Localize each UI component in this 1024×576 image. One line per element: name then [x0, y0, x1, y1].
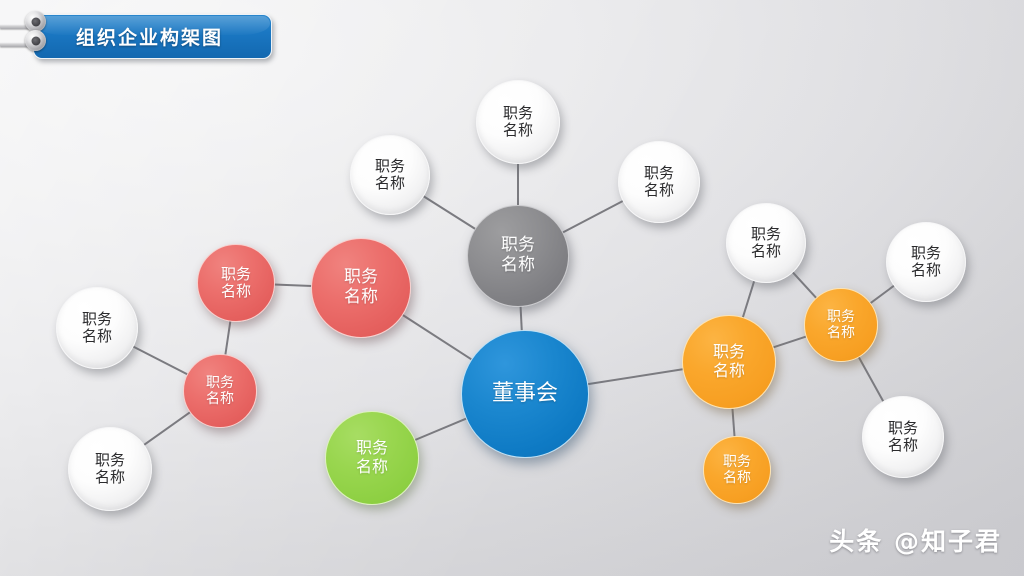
connector-line	[521, 306, 522, 331]
org-node-label-line1: 职务	[644, 165, 674, 182]
org-node-w_top1[interactable]: 职务名称	[476, 80, 560, 164]
title-plate: 组织企业构架图	[33, 14, 272, 59]
org-node-label-line2: 名称	[888, 437, 918, 454]
binder-ring-icon-bottom	[25, 30, 46, 51]
org-node-red_b[interactable]: 职务名称	[183, 354, 257, 428]
org-node-label-line1: 职务	[501, 236, 535, 256]
org-node-label-line2: 名称	[356, 458, 388, 477]
org-node-label-line1: 职务	[503, 105, 533, 122]
org-node-label-line1: 职务	[911, 245, 941, 262]
connector-line	[402, 315, 472, 360]
org-node-red_a[interactable]: 职务名称	[197, 244, 275, 322]
org-node-w_r3[interactable]: 职务名称	[862, 396, 944, 478]
org-node-label-line2: 名称	[503, 122, 533, 139]
org-node-label-line2: 名称	[221, 283, 251, 300]
org-node-label-line2: 名称	[95, 469, 125, 486]
org-node-gray1[interactable]: 职务名称	[467, 205, 569, 307]
org-node-label-line2: 名称	[911, 262, 941, 279]
org-node-label-line2: 名称	[375, 175, 405, 192]
org-node-label-line1: 职务	[888, 420, 918, 437]
org-node-board[interactable]: 董事会	[461, 330, 589, 458]
org-node-label-line1: 职务	[82, 311, 112, 328]
connector-line	[743, 280, 755, 318]
org-node-label: 董事会	[492, 381, 558, 407]
org-node-label-line1: 职务	[344, 268, 378, 288]
org-node-label-line1: 职务	[206, 375, 234, 391]
connector-line	[225, 321, 230, 356]
org-node-label-line2: 名称	[723, 470, 751, 486]
org-node-label-line2: 名称	[751, 243, 781, 260]
page-title: 组织企业构架图	[76, 15, 261, 58]
org-node-red_big[interactable]: 职务名称	[311, 238, 411, 338]
org-node-label-line2: 名称	[827, 325, 855, 341]
connector-line	[423, 196, 476, 229]
org-node-label-line2: 名称	[501, 256, 535, 276]
org-node-w_top2[interactable]: 职务名称	[350, 135, 430, 215]
watermark: 头条 @知子君	[829, 522, 1002, 558]
org-node-or_big[interactable]: 职务名称	[682, 315, 776, 409]
org-node-label-line1: 职务	[375, 158, 405, 175]
org-node-label-line1: 职务	[723, 454, 751, 470]
org-node-w_r2[interactable]: 职务名称	[886, 222, 966, 302]
org-node-label-line2: 名称	[344, 288, 378, 308]
org-node-label-line2: 名称	[82, 328, 112, 345]
connector-line	[858, 356, 883, 402]
connector-line	[870, 285, 895, 303]
connector-line	[732, 408, 734, 437]
connector-line	[414, 418, 466, 440]
org-node-or_low[interactable]: 职务名称	[703, 436, 771, 504]
connector-line	[773, 336, 807, 347]
org-node-label-line1: 职务	[713, 343, 745, 362]
org-node-label-line2: 名称	[206, 391, 234, 407]
binder-ring-icon-top	[25, 11, 46, 32]
slide-canvas: 组织企业构架图 董事会职务名称职务名称职务名称职务名称职务名称职务名称职务名称职…	[0, 0, 1024, 576]
org-node-label-line1: 职务	[827, 309, 855, 325]
connector-line	[587, 369, 683, 384]
org-node-green1[interactable]: 职务名称	[325, 411, 419, 505]
connector-line	[562, 201, 623, 233]
org-node-w_left1[interactable]: 职务名称	[56, 287, 138, 369]
org-node-or_mid[interactable]: 职务名称	[804, 288, 878, 362]
org-node-label-line2: 名称	[644, 182, 674, 199]
org-node-label-line1: 职务	[95, 452, 125, 469]
org-node-w_left2[interactable]: 职务名称	[68, 427, 152, 511]
connector-line	[792, 272, 816, 299]
org-node-label-line2: 名称	[713, 362, 745, 381]
connector-line	[274, 285, 312, 287]
org-node-label-line1: 职务	[356, 439, 388, 458]
org-node-label-line1: 职务	[751, 226, 781, 243]
org-node-label-line1: 职务	[221, 266, 251, 283]
connector-line	[133, 346, 188, 374]
org-node-w_top3[interactable]: 职务名称	[618, 141, 700, 223]
connector-line	[143, 412, 190, 445]
org-node-w_r1[interactable]: 职务名称	[726, 203, 806, 283]
